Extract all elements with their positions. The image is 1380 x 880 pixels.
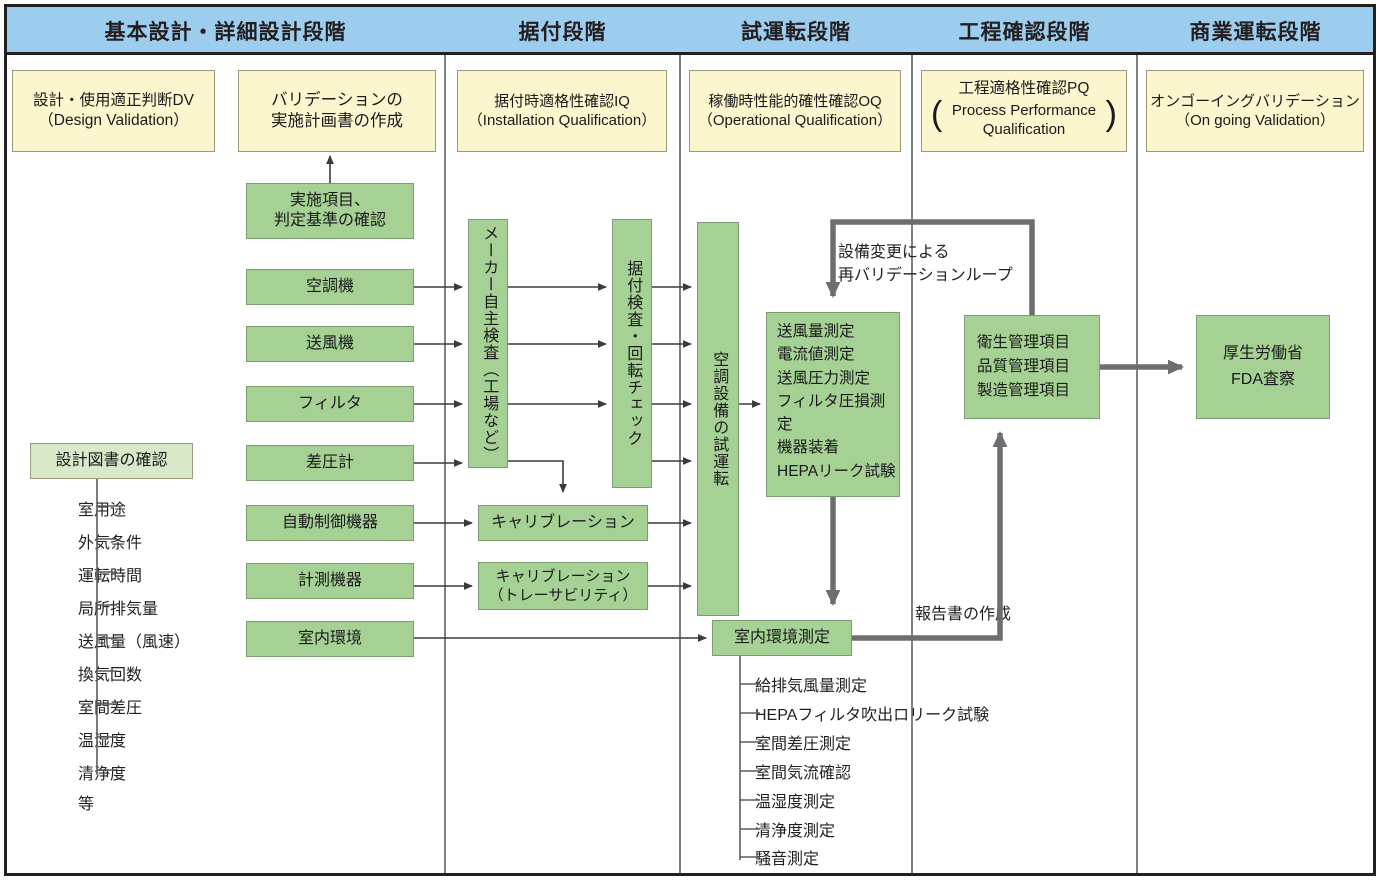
green-box-indoor-env: 室内環境: [246, 621, 414, 657]
stage-box-dv-ja: 設計・使用適正判断DV: [33, 91, 194, 111]
green-box-criteria: 実施項目、 判定基準の確認: [246, 183, 414, 239]
green-box-calibration: キャリブレーション: [478, 505, 648, 541]
green-box-room-env-measurement: 室内環境測定: [712, 620, 852, 656]
green-box-criteria-text: 実施項目、 判定基準の確認: [274, 191, 386, 232]
pq-paren-close: ): [1106, 97, 1117, 131]
room-env-item-2: 室間差圧測定: [755, 734, 851, 755]
pq-control-item-0: 衛生管理項目: [977, 333, 1070, 353]
stage-box-dv-en: （Design Validation）: [38, 111, 188, 131]
room-env-item-5: 清浄度測定: [755, 821, 835, 842]
stage-box-dv: 設計・使用適正判断DV （Design Validation）: [12, 70, 215, 152]
drawing-item-6: 室間差圧: [78, 698, 142, 719]
column-header-install: 据付段階: [446, 7, 679, 55]
oq-measurement-3: フィルタ圧損測定: [777, 391, 899, 436]
column-header-process: 工程確認段階: [913, 7, 1136, 55]
annotation-report-creation: 報告書の作成: [915, 604, 1011, 625]
drawing-item-1: 外気条件: [78, 533, 142, 554]
column-divider-4: [1136, 55, 1138, 873]
room-env-item-3: 室間気流確認: [755, 763, 851, 784]
green-box-dp-gauge: 差圧計: [246, 445, 414, 481]
pq-control-item-2: 製造管理項目: [977, 381, 1070, 401]
room-env-item-4: 温湿度測定: [755, 792, 835, 813]
green-box-oq-measurements: 送風量測定 電流値測定 送風圧力測定 フィルタ圧損測定 機器装着 HEPAリーク…: [766, 312, 900, 497]
stage-box-ongoing-en: （On going Validation）: [1175, 111, 1335, 130]
drawing-item-2: 運転時間: [78, 566, 142, 587]
room-env-item-1: HEPAフィルタ吹出ロリーク試験: [755, 705, 989, 726]
stage-box-oq: 稼働時性能的確性確認OQ （Operational Qualification）: [689, 70, 901, 152]
drawing-item-etc: 等: [78, 794, 94, 815]
green-box-fan: 送風機: [246, 326, 414, 362]
flowchart-diagram: 基本設計・詳細設計段階 据付段階 試運転段階 工程確認段階 商業運転段階 設計・…: [0, 0, 1380, 880]
oq-measurement-0: 送風量測定: [777, 321, 899, 343]
drawing-item-8: 清浄度: [78, 764, 126, 785]
column-header-design: 基本設計・詳細設計段階: [7, 7, 444, 55]
column-divider-2: [679, 55, 681, 873]
column-divider-1: [444, 55, 446, 873]
stage-box-oq-ja: 稼働時性能的確性確認OQ: [708, 92, 881, 111]
room-env-item-0: 給排気風量測定: [755, 676, 867, 697]
green-box-pq-control-items: 衛生管理項目 品質管理項目 製造管理項目: [964, 315, 1100, 419]
green-box-calibration-traceability-text: キャリブレーション （トレーサビリティ）: [489, 567, 638, 605]
stage-box-validation-plan-l2: 実施計画書の作成: [271, 111, 403, 132]
green-box-design-drawings: 設計図書の確認: [30, 443, 193, 479]
stage-box-iq-ja: 据付時適格性確認IQ: [494, 92, 630, 111]
green-box-auto-control: 自動制御機器: [246, 505, 414, 541]
stage-box-validation-plan: バリデーションの 実施計画書の作成: [238, 70, 436, 152]
column-divider-3: [911, 55, 913, 873]
stage-box-pq-en1: Process Performance: [922, 102, 1126, 120]
stage-box-pq-en2: Qualification: [922, 121, 1126, 139]
oq-measurement-1: 電流値測定: [777, 344, 899, 366]
column-header-commercial: 商業運転段階: [1138, 7, 1373, 55]
pq-paren-open: (: [931, 97, 942, 131]
stage-box-ongoing: オンゴーイングバリデーション （On going Validation）: [1146, 70, 1364, 152]
pq-control-item-1: 品質管理項目: [977, 357, 1070, 377]
drawing-item-7: 温湿度: [78, 731, 126, 752]
oq-measurement-4: 機器装着: [777, 437, 899, 459]
column-header-trial: 試運転段階: [681, 7, 911, 55]
green-box-measuring-device: 計測機器: [246, 563, 414, 599]
green-box-trial-run: 空調設備の試運転: [697, 222, 739, 616]
drawing-item-5: 換気回数: [78, 665, 142, 686]
drawing-item-3: 局所排気量: [78, 599, 158, 620]
stage-box-validation-plan-l1: バリデーションの: [271, 90, 403, 111]
drawing-item-4: 送風量（風速）: [78, 632, 190, 653]
stage-box-ongoing-ja: オンゴーイングバリデーション: [1150, 92, 1360, 111]
annotation-revalidation-loop: 設備変更による 再バリデーションループ: [838, 241, 1013, 287]
stage-box-iq: 据付時適格性確認IQ （Installation Qualification）: [457, 70, 667, 152]
green-box-maker-inspection: メーカー自主検査（工場など）: [468, 219, 508, 468]
room-env-item-6: 騒音測定: [755, 849, 819, 870]
drawing-item-0: 室用途: [78, 500, 126, 521]
green-box-mhlw-fda-inspection: 厚生労働省 FDA査察: [1196, 315, 1330, 419]
stage-box-pq-ja: 工程適格性確認PQ: [922, 80, 1126, 99]
stage-box-oq-en: （Operational Qualification）: [698, 111, 892, 130]
green-box-calibration-traceability: キャリブレーション （トレーサビリティ）: [478, 562, 648, 610]
oq-measurement-2: 送風圧力測定: [777, 368, 899, 390]
green-box-mhlw-fda-text: 厚生労働省 FDA査察: [1223, 341, 1303, 392]
green-box-ahu: 空調機: [246, 269, 414, 305]
stage-box-pq: 工程適格性確認PQ Process Performance Qualificat…: [921, 70, 1127, 152]
oq-measurement-5: HEPAリーク試験: [777, 461, 899, 483]
stage-box-iq-en: （Installation Qualification）: [468, 111, 656, 130]
green-box-install-check: 据付検査・回転チェック: [612, 219, 652, 488]
green-box-filter: フィルタ: [246, 386, 414, 422]
